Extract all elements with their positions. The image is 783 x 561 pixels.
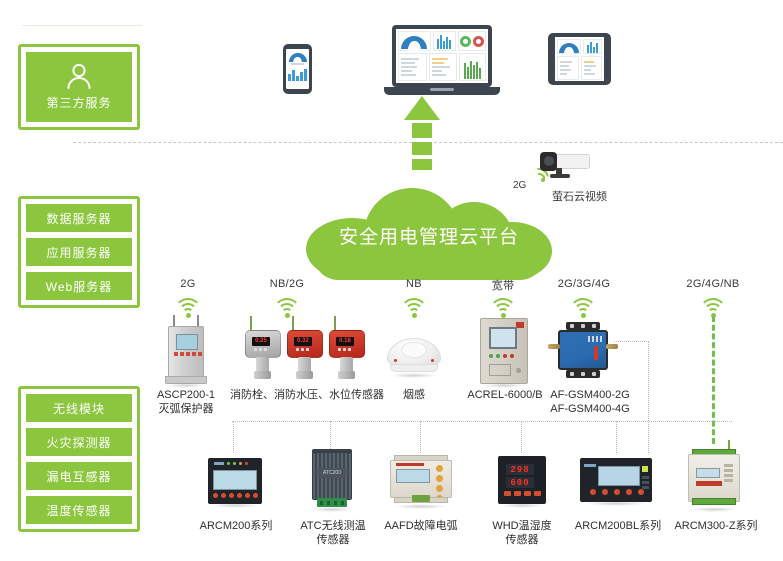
device-arcm200-series [208,458,262,504]
device-label-acrel-6000b: ACREL-6000/B [462,388,548,402]
device-af-gsm400 [552,320,614,380]
laptop-trackpad-notch [430,88,454,91]
client-tablet [548,33,611,85]
net-label-arcm300z: 2G/4G/NB [676,278,750,290]
wifi-icon-fire-sensors [274,298,300,318]
panel-third-party-cell[interactable]: 第三方服务 [26,52,132,122]
client-smartphone [283,44,312,94]
device-smoke-detector [387,330,441,374]
camera-network-label: 2G [513,180,526,191]
device-label-atc-sensor: ATC无线测温 传感器 [288,519,378,547]
laptop-lid [392,25,492,87]
field-bus-horizontal [232,421,732,422]
device-acrel-6000b [480,318,528,384]
panel-third-party-label: 第三方服务 [46,94,111,111]
smartphone-screen [286,49,309,89]
cloud-platform: 安全用电管理云平台 [306,188,552,280]
camera-label: 萤石云视频 [552,188,607,204]
panel-third-party-service[interactable]: 第三方服务 [18,44,140,130]
field-bus-drop-aafd [420,421,421,453]
device-label-ascp200-1: ASCP200-1 灭弧保护器 [142,388,230,416]
user-icon [64,63,94,92]
tablet-body [548,33,611,85]
net-label-gsm: 2G/3G/4G [549,278,619,290]
device-label-whd: WHD温湿度 传感器 [478,519,566,547]
net-label-smoke: NB [394,278,434,290]
atc-body-text: ATC200 [318,468,346,478]
device-label-af-gsm400: AF-GSM400-2G AF-GSM400-4G [540,388,640,416]
wifi-icon-arcm300z [700,298,726,318]
net-label-fire-sensors: NB/2G [258,278,316,290]
device-label-smoke: 烟感 [386,388,442,402]
tablet-dashboard-screen [555,37,604,81]
device-item-fire-detector[interactable]: 火灾探测器 [26,428,132,456]
device-label-aafd: AAFD故障电弧 [378,519,464,533]
device-water-level-sensor: 0.18 [327,322,367,384]
camera-ezviz-icon [534,152,592,178]
smartphone-body [283,44,312,94]
gsm-link-vertical [648,341,649,453]
device-label-arcm200-series: ARCM200系列 [190,519,282,533]
arcm300z-wireless-link [712,316,715,444]
device-arcm300z-series [688,448,740,508]
net-label-ascp: 2G [168,278,208,290]
device-atc-temperature-sensor: ATC200 [308,452,356,508]
gsm-link-horizontal [614,341,649,342]
field-bus-drop-arcm200 [233,421,234,453]
wifi-icon-smoke [401,298,427,318]
device-ascp200-1 [165,320,207,384]
device-water-pressure-sensor: 0.32 [285,322,325,384]
device-item-wireless-module[interactable]: 无线模块 [26,394,132,422]
device-item-leakage-transformer[interactable]: 漏电互感器 [26,462,132,490]
cloud-platform-title: 安全用电管理云平台 [306,222,552,249]
wifi-icon-acrel [490,298,516,318]
client-laptop [384,25,500,99]
field-bus-drop-arcm200bl [616,421,617,453]
whd-value-top: 298 [510,465,529,475]
top-faint-rule [22,25,142,26]
panel-field-devices[interactable]: 无线模块 火灾探测器 漏电互感器 温度传感器 [18,386,140,532]
server-item-application[interactable]: 应用服务器 [26,238,132,266]
device-whd-temp-humidity: 298 600 [498,456,546,504]
device-label-arcm200bl: ARCM200BL系列 [570,519,666,533]
panel-servers[interactable]: 数据服务器 应用服务器 Web服务器 [18,196,140,308]
device-hydrant-sensor: 0.25 [243,322,283,384]
server-item-data[interactable]: 数据服务器 [26,204,132,232]
device-item-temperature-sensor[interactable]: 温度传感器 [26,496,132,524]
server-item-web[interactable]: Web服务器 [26,272,132,300]
device-label-arcm300z: ARCM300-Z系列 [668,519,764,533]
device-aafd-arc-fault [390,455,452,505]
laptop-dashboard-screen [396,29,488,83]
wifi-icon-gsm [570,298,596,318]
device-arcm200bl-series [580,458,652,502]
net-label-acrel: 宽带 [478,277,528,293]
uplink-arrow-icon [404,96,440,184]
field-bus-drop-whd [521,421,522,453]
whd-value-bottom: 600 [510,478,529,488]
device-label-fire-sensors: 消防栓、消防水压、水位传感器 [222,388,392,402]
